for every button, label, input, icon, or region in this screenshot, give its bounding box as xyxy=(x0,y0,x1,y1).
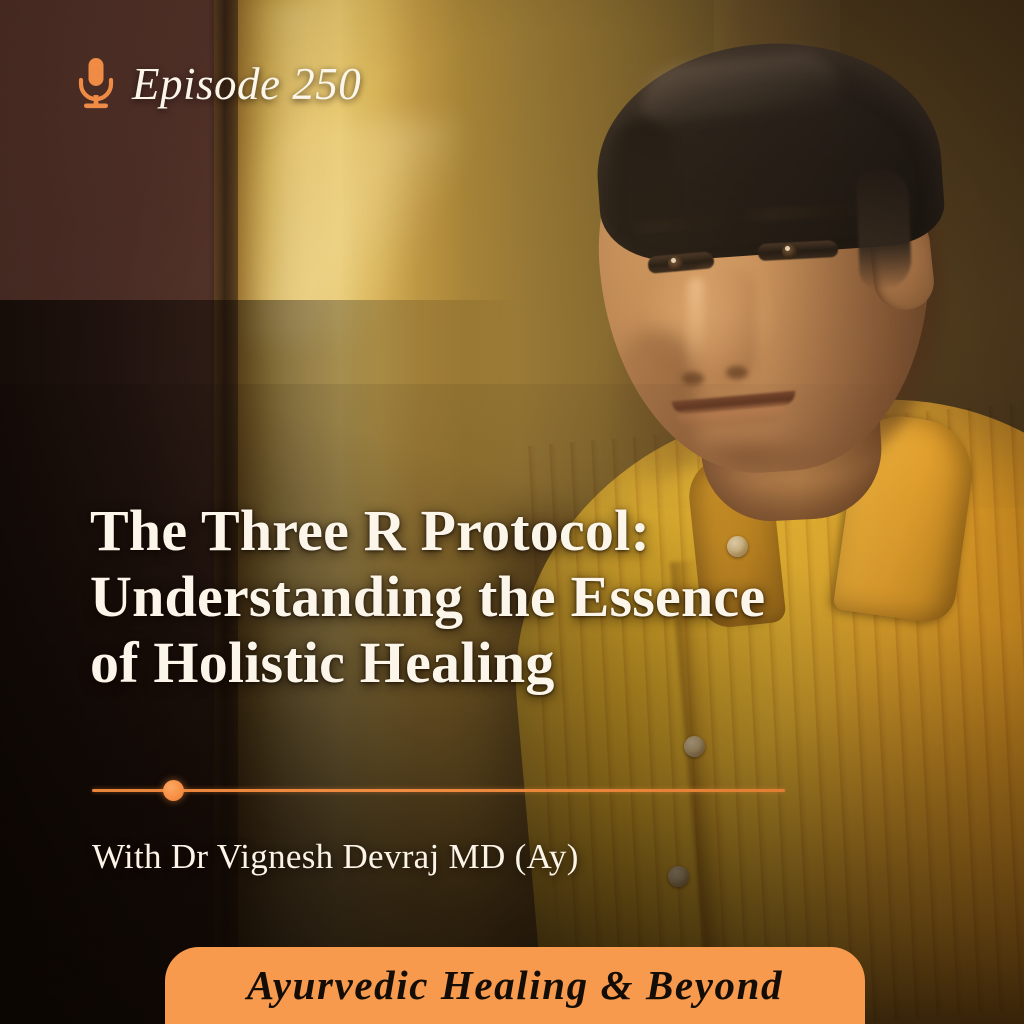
episode-title-line-1: The Three R Protocol: xyxy=(90,498,880,564)
episode-title-line-3: of Holistic Healing xyxy=(90,630,880,696)
show-title-label: Ayurvedic Healing & Beyond xyxy=(247,965,783,1006)
episode-badge: Episode 250 xyxy=(74,56,361,112)
cover-content: Episode 250 The Three R Protocol: Unders… xyxy=(0,0,1024,1024)
progress-track xyxy=(92,789,785,792)
show-title-banner: Ayurvedic Healing & Beyond xyxy=(165,947,865,1024)
episode-number-label: Episode 250 xyxy=(132,62,361,107)
progress-handle-icon xyxy=(163,780,184,801)
host-byline: With Dr Vignesh Devraj MD (Ay) xyxy=(92,836,579,878)
episode-title-line-2: Understanding the Essence xyxy=(90,564,880,630)
microphone-icon xyxy=(74,56,118,112)
episode-title: The Three R Protocol: Understanding the … xyxy=(90,498,880,696)
progress-divider xyxy=(92,788,785,794)
podcast-episode-cover: Episode 250 The Three R Protocol: Unders… xyxy=(0,0,1024,1024)
